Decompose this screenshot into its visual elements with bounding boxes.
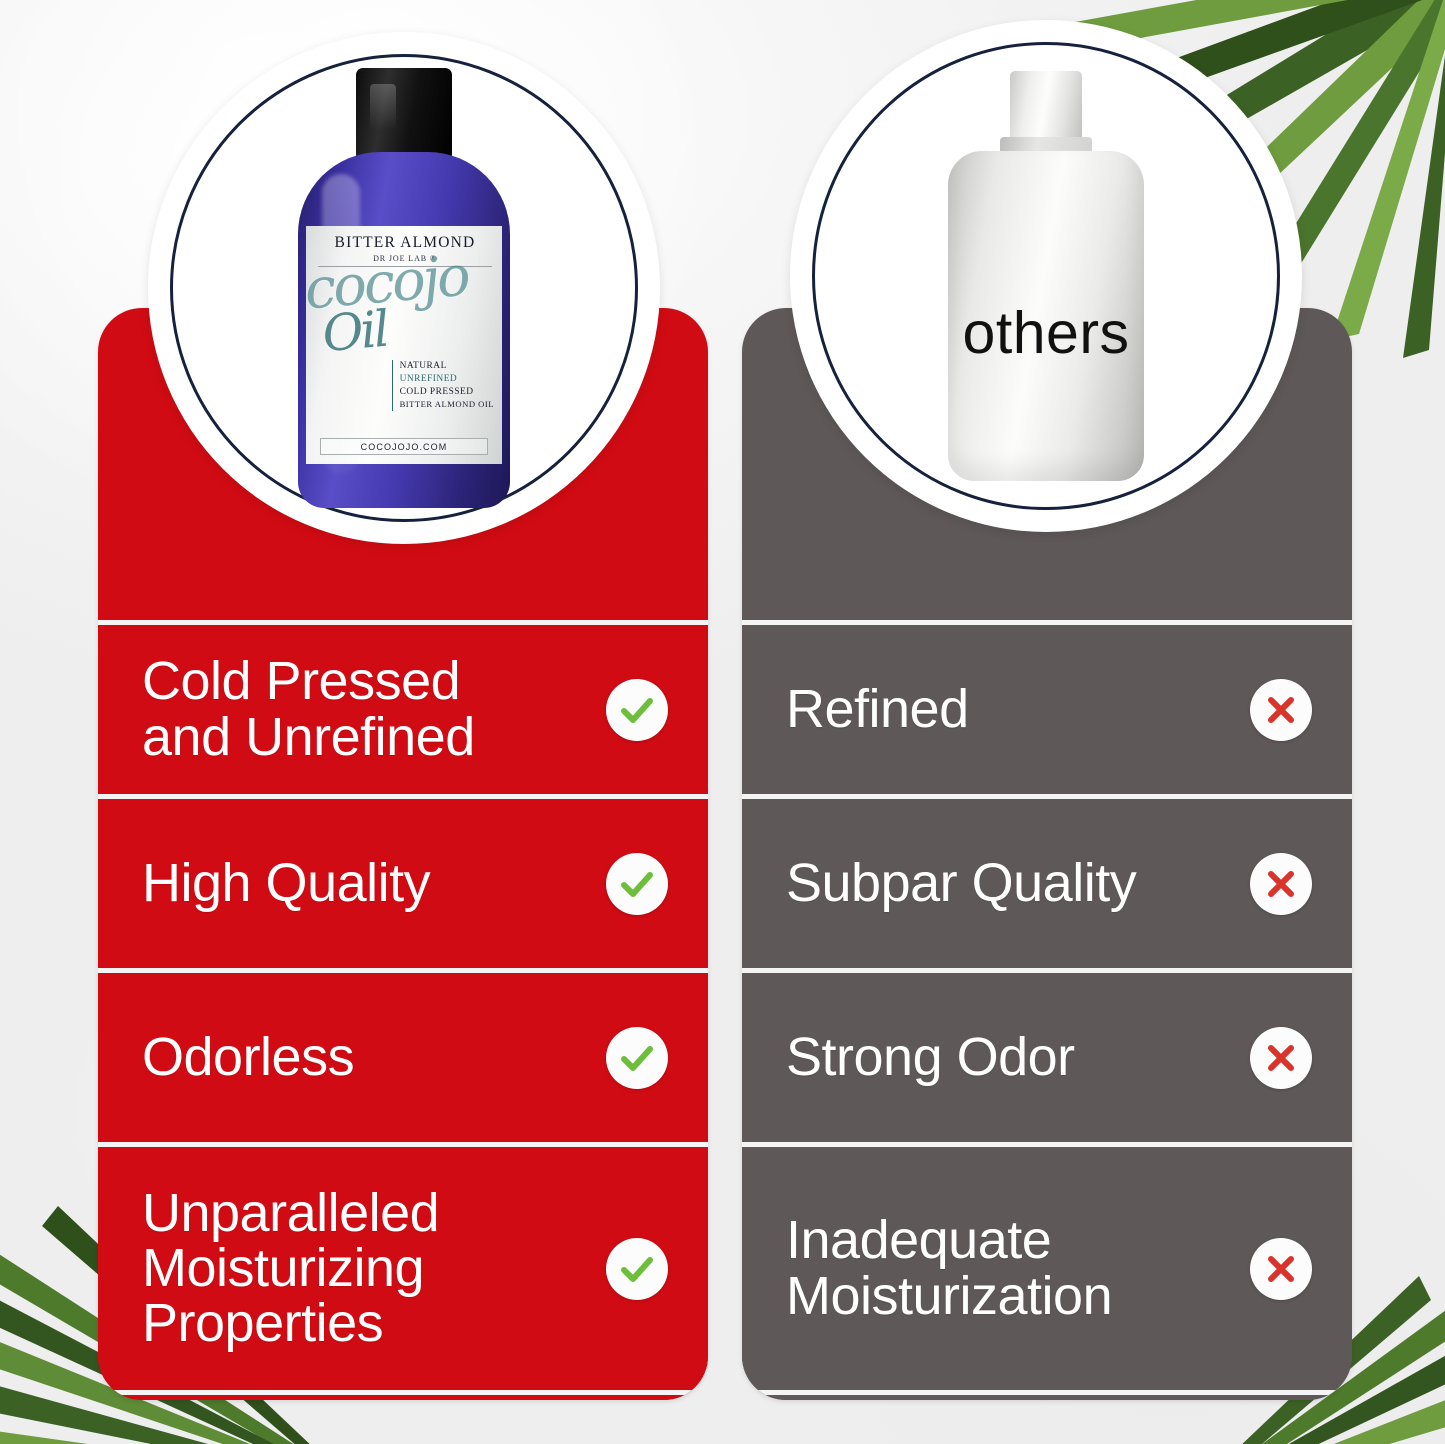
ours-feature-list: Cold Pressed and Unrefined High Quality …: [98, 620, 708, 1400]
infographic-canvas: Cold Pressed and Unrefined High Quality …: [0, 0, 1445, 1444]
bottle-spec-3: Cold Pressed: [400, 386, 494, 399]
cross-icon: [1250, 1238, 1312, 1300]
table-row: Odorless: [98, 968, 708, 1142]
ours-feature-label-4: Unparalleled Moisturizing Properties: [142, 1186, 590, 1351]
cross-icon: [1250, 1027, 1312, 1089]
others-bottle: others: [948, 71, 1144, 481]
bottle-spec-2: Unrefined: [400, 373, 494, 386]
ours-product-badge: Bitter Almond Dr Joe Lab ® cocojo Oil Na…: [148, 32, 660, 544]
check-icon: [606, 1238, 668, 1300]
table-row: Subpar Quality: [742, 794, 1352, 968]
table-row: High Quality: [98, 794, 708, 968]
check-icon: [606, 1027, 668, 1089]
bottle-spec-4: Bitter Almond Oil: [400, 399, 494, 411]
cross-icon: [1250, 853, 1312, 915]
others-bottle-neck: [1010, 71, 1082, 145]
check-icon: [606, 679, 668, 741]
table-row: Cold Pressed and Unrefined: [98, 620, 708, 794]
bottle-cap: [356, 68, 452, 160]
table-row: Strong Odor: [742, 968, 1352, 1142]
ours-feature-label-2: High Quality: [142, 856, 590, 911]
ours-feature-label-1: Cold Pressed and Unrefined: [142, 654, 590, 764]
check-icon: [606, 853, 668, 915]
bottle-label-title: Bitter Almond: [318, 235, 492, 251]
others-panel-footer-strip: [742, 1390, 1352, 1400]
cocojojo-bottle-icon: Bitter Almond Dr Joe Lab ® cocojo Oil Na…: [148, 32, 660, 544]
cross-icon: [1250, 679, 1312, 741]
cocojojo-bottle: Bitter Almond Dr Joe Lab ® cocojo Oil Na…: [298, 68, 510, 508]
bottle-spec-1: Natural: [400, 360, 494, 373]
table-row: Inadequate Moisturization: [742, 1142, 1352, 1390]
others-feature-label-4: Inadequate Moisturization: [786, 1213, 1234, 1323]
bottle-label-specs: Natural Unrefined Cold Pressed Bitter Al…: [392, 360, 494, 411]
bottle-label: Bitter Almond Dr Joe Lab ® cocojo Oil Na…: [306, 226, 502, 464]
ours-panel-footer-strip: [98, 1390, 708, 1400]
others-feature-label-1: Refined: [786, 682, 1234, 737]
table-row: Unparalleled Moisturizing Properties: [98, 1142, 708, 1390]
others-feature-list: Refined Subpar Quality Strong Odor: [742, 620, 1352, 1400]
bottle-body: Bitter Almond Dr Joe Lab ® cocojo Oil Na…: [298, 152, 510, 508]
others-product-badge: others: [790, 20, 1302, 532]
table-row: Refined: [742, 620, 1352, 794]
others-bottle-icon: others: [790, 20, 1302, 532]
bottle-label-url: COCOJOJO.COM: [320, 438, 488, 455]
ours-feature-label-3: Odorless: [142, 1030, 590, 1085]
others-feature-label-2: Subpar Quality: [786, 856, 1234, 911]
others-feature-label-3: Strong Odor: [786, 1030, 1234, 1085]
others-bottle-body: others: [948, 151, 1144, 481]
others-bottle-label: others: [963, 299, 1130, 367]
